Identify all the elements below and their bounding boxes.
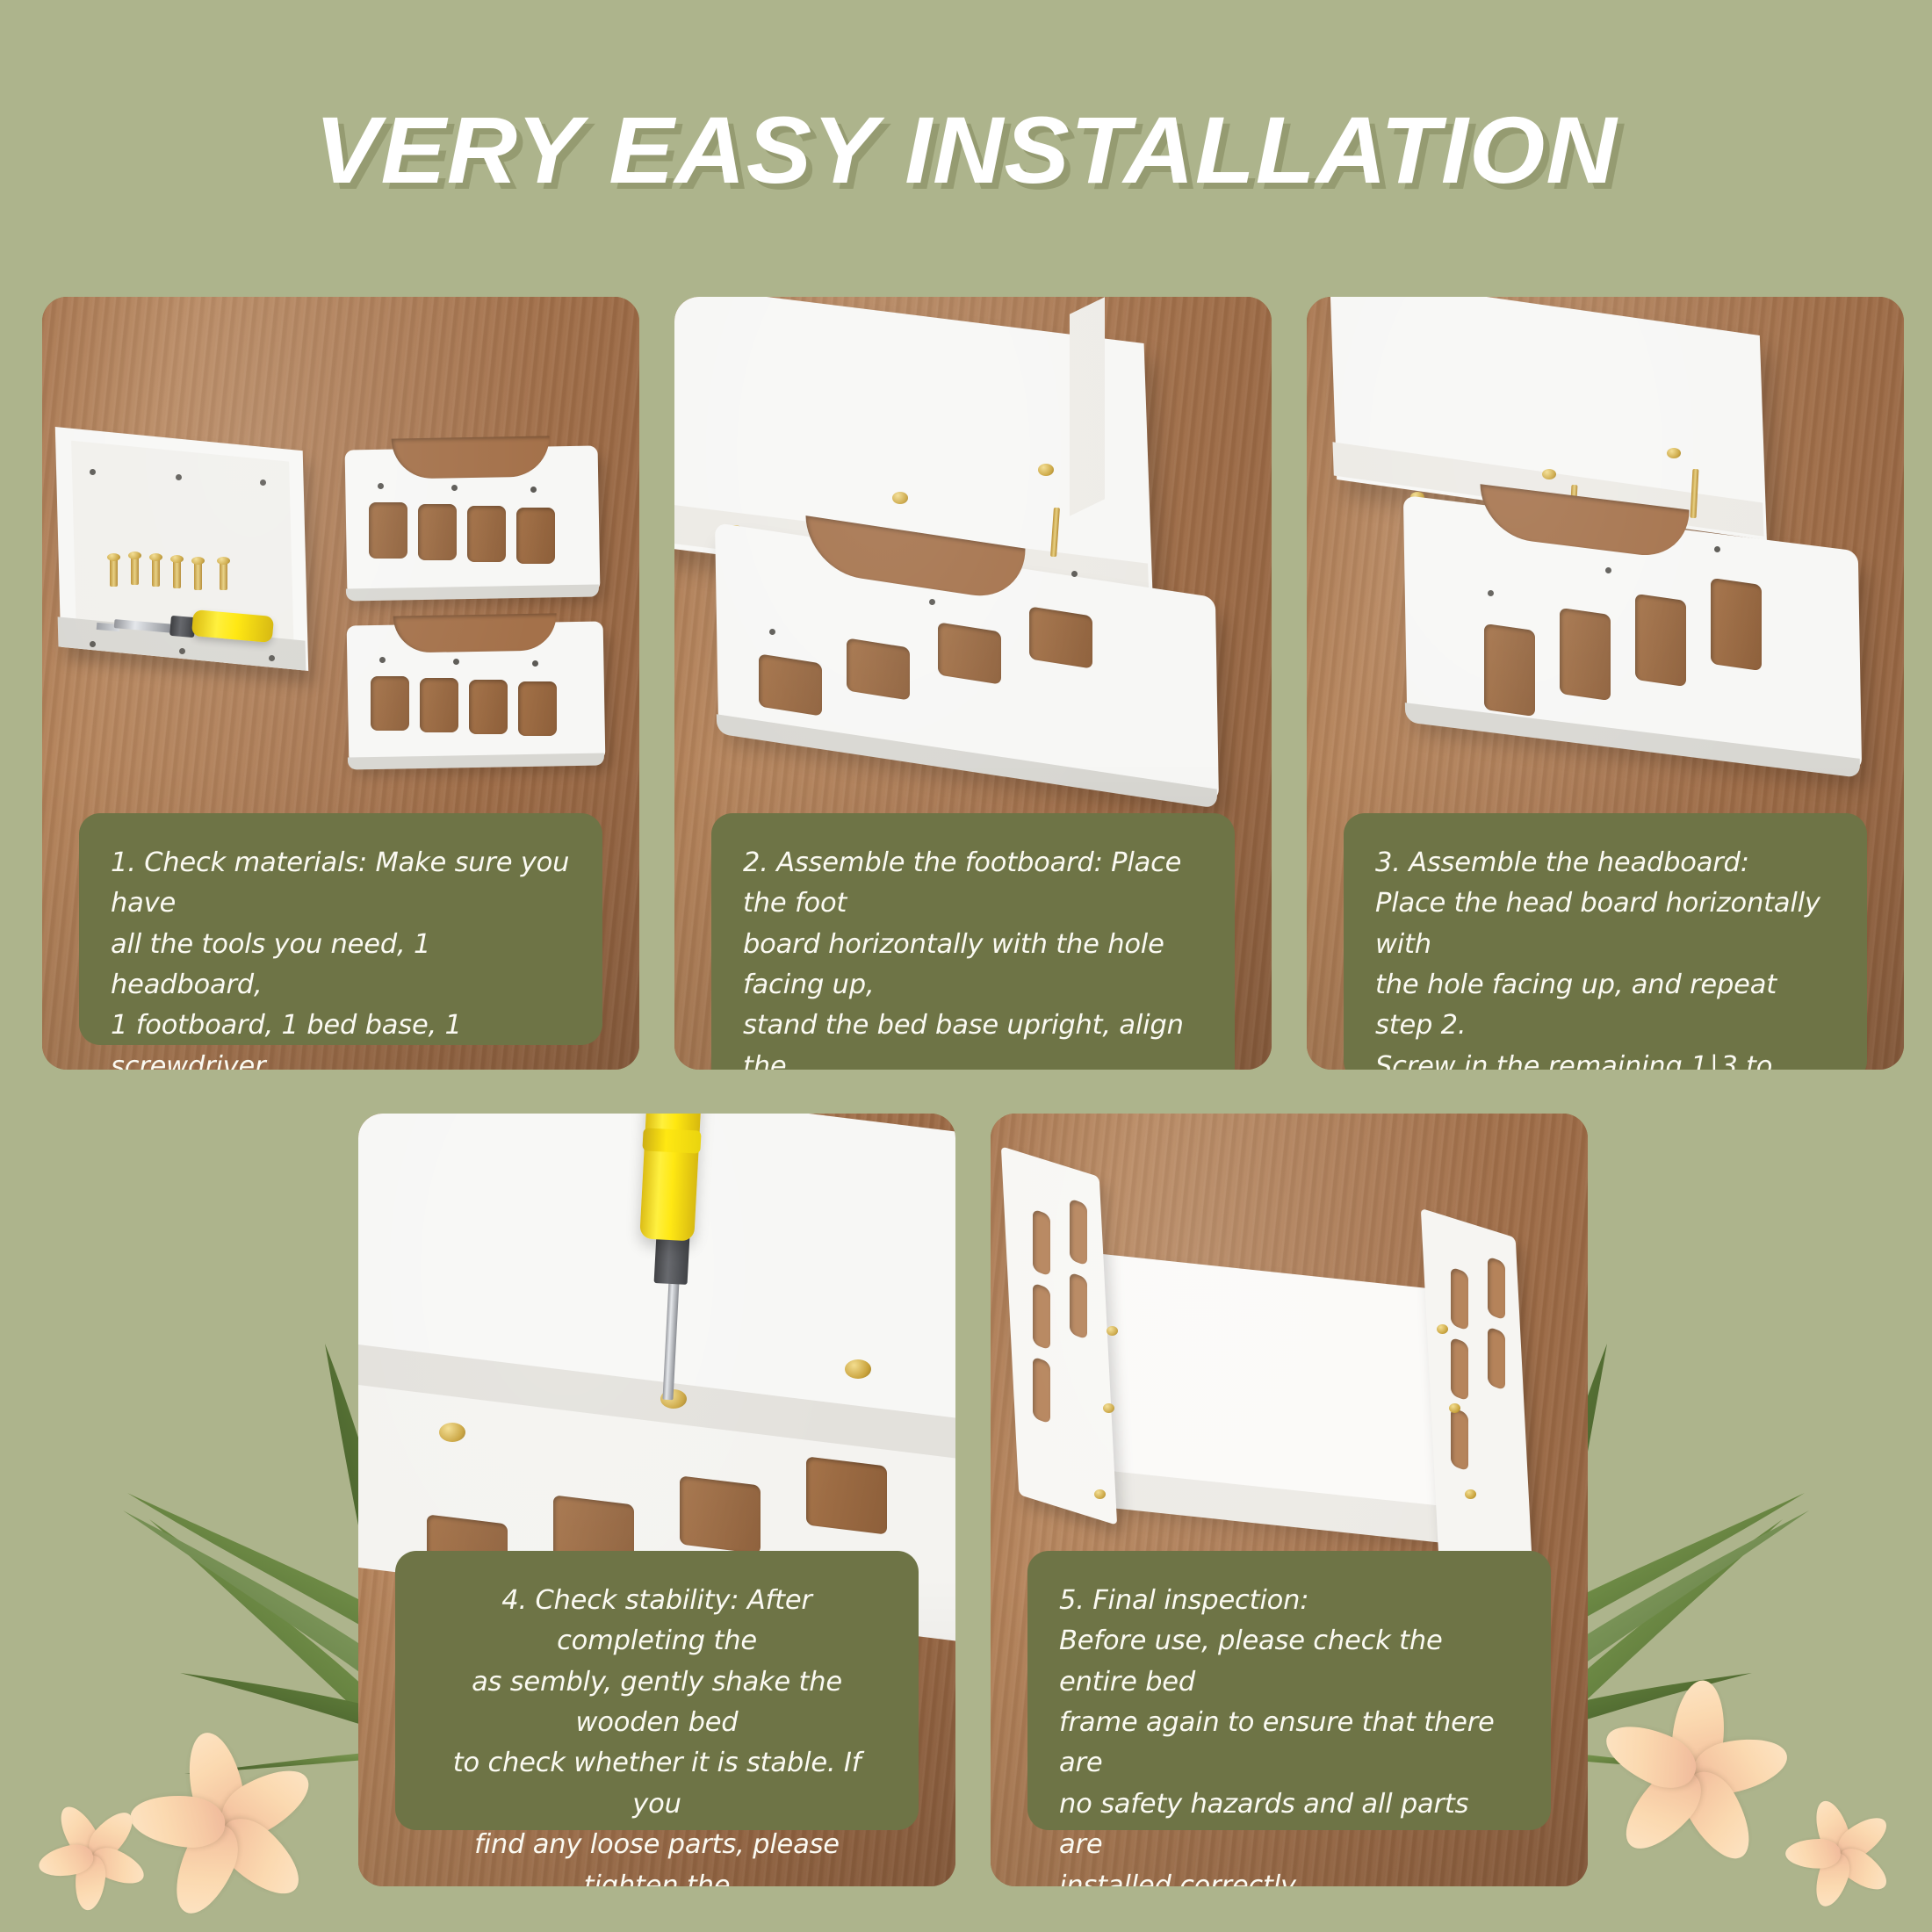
plumeria-flower-large-left [224,1825,225,1826]
plumeria-flower-large-right [1693,1774,1694,1775]
step-card-1: 1. Check materials: Make sure you have a… [42,297,639,1070]
step-card-2: 2. Assemble the footboard: Place the foo… [674,297,1272,1070]
step-2-caption: 2. Assemble the footboard: Place the foo… [711,813,1235,1070]
step-3-caption: 3. Assemble the headboard: Place the hea… [1344,813,1867,1070]
step-card-5: 5. Final inspection: Before use, please … [991,1114,1588,1886]
flower-petal [1785,1839,1841,1869]
poster-canvas: VERY EASY INSTALLATION [0,0,1932,1932]
step-4-caption: 4. Check stability: After completing the… [395,1551,919,1830]
step-1-caption: 1. Check materials: Make sure you have a… [79,813,602,1045]
step-card-3: 3. Assemble the headboard: Place the hea… [1307,297,1904,1070]
page-title: VERY EASY INSTALLATION [0,95,1932,205]
plumeria-flower-small-left [92,1855,93,1856]
step-card-4: 4. Check stability: After completing the… [358,1114,955,1886]
step-5-caption: 5. Final inspection: Before use, please … [1027,1551,1551,1830]
plumeria-flower-small-right [1840,1853,1841,1854]
